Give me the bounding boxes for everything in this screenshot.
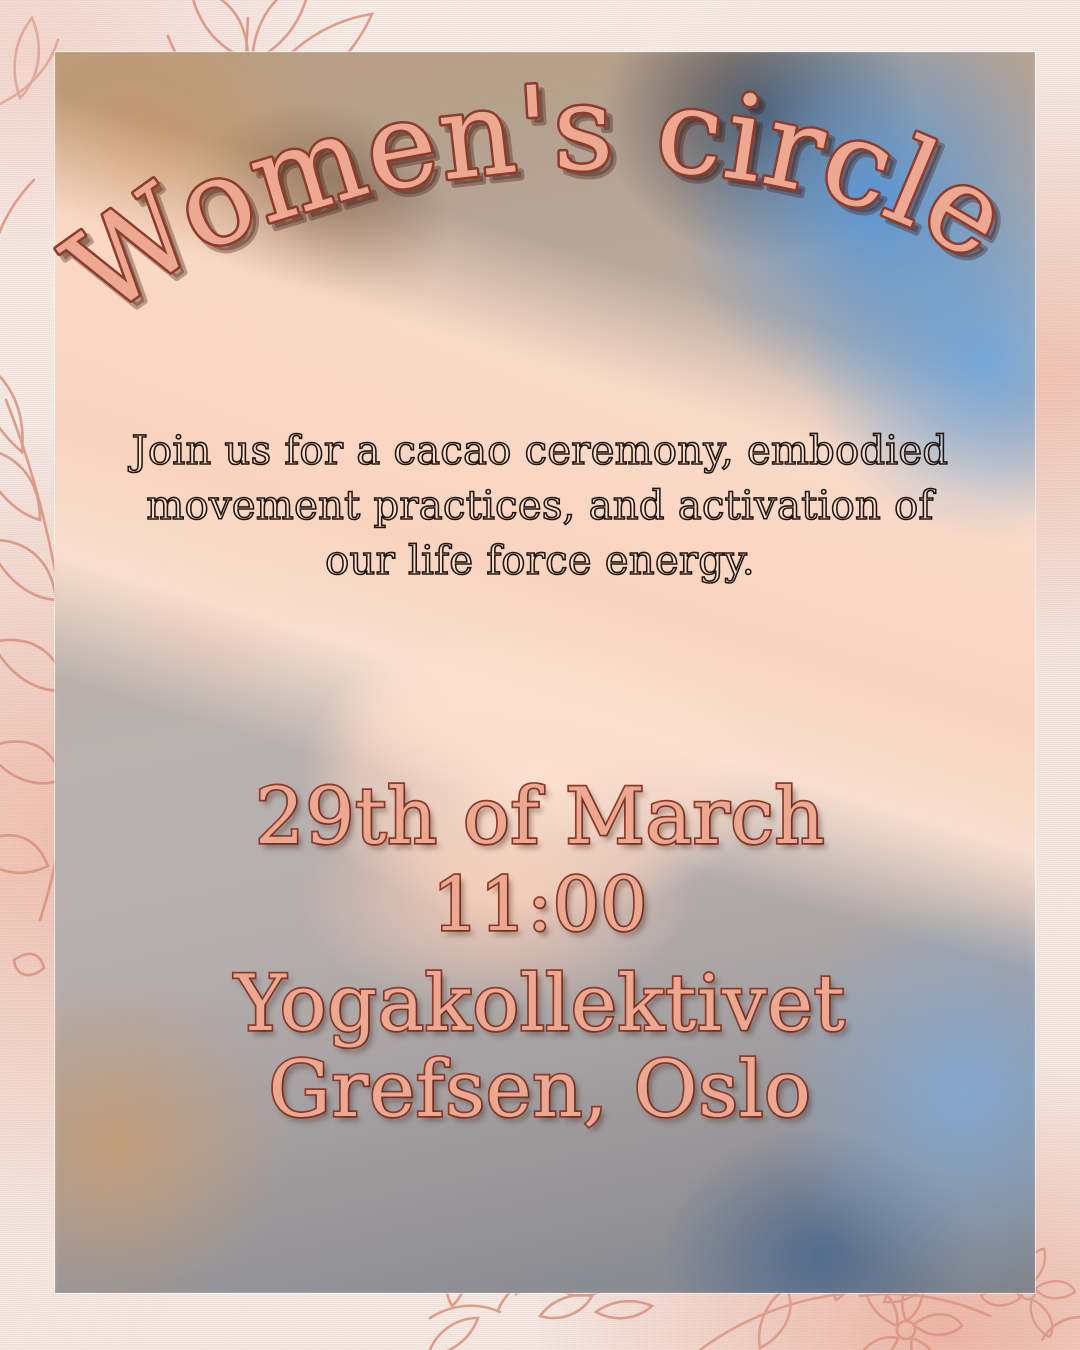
poster-title: Women's circle Women's circle — [0, 58, 1080, 398]
event-city: Grefsen, Oslo — [0, 1051, 1080, 1131]
poster-content: Women's circle Women's circle Join us fo… — [0, 0, 1080, 1350]
poster-blurb: Join us for a cacao ceremony, embodied m… — [110, 424, 970, 590]
title-arc-svg: Women's circle Women's circle — [0, 58, 1080, 398]
event-date: 29th of March — [0, 778, 1080, 858]
event-details: 29th of March 11:00 Yogakollektivet Gref… — [0, 778, 1080, 1130]
event-venue: Yogakollektivet — [0, 965, 1080, 1045]
event-time: 11:00 — [0, 868, 1080, 943]
poster-root: Women's circle Women's circle Join us fo… — [0, 0, 1080, 1350]
